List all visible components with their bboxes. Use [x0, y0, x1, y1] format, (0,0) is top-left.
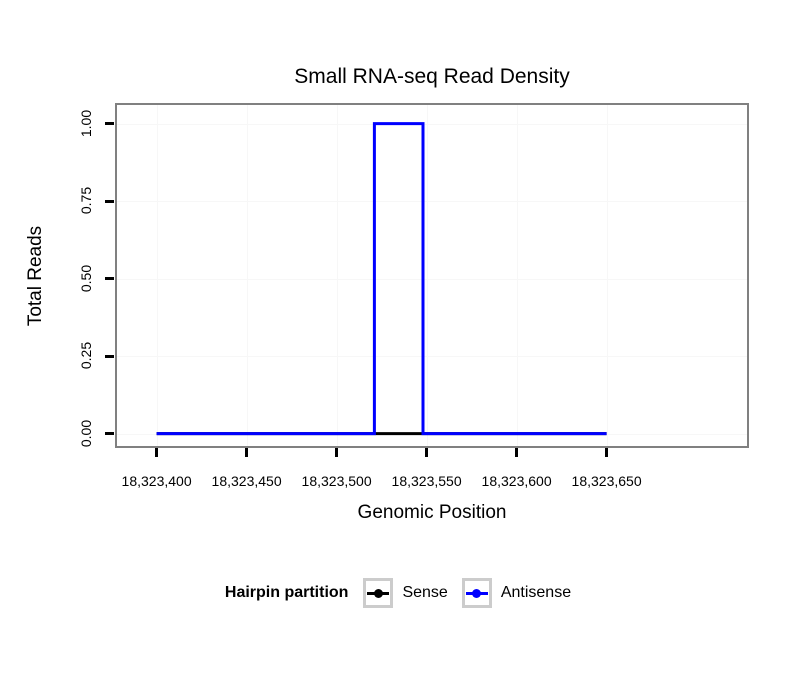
y-axis-tick — [105, 122, 114, 125]
plot-panel — [115, 103, 749, 448]
legend-label: Sense — [402, 584, 447, 602]
legend-key-dot-icon — [374, 589, 383, 598]
x-axis-tick — [245, 448, 248, 457]
y-axis-tick-label: 0.50 — [0, 270, 100, 287]
y-axis-tick — [105, 432, 114, 435]
legend-key-icon — [462, 578, 492, 608]
legend-key-dot-icon — [472, 589, 481, 598]
y-axis-tick-label: 0.75 — [0, 192, 100, 209]
legend-label: Antisense — [501, 584, 571, 602]
y-axis-tick-label: 0.00 — [0, 425, 100, 442]
chart-figure: Small RNA-seq Read Density 18,323,40018,… — [0, 0, 810, 690]
legend-entry-sense[interactable]: Sense — [363, 578, 447, 608]
y-axis-tick — [105, 200, 114, 203]
chart-title: Small RNA-seq Read Density — [115, 64, 749, 90]
x-axis-tick — [515, 448, 518, 457]
y-axis-title-text: Total Reads — [25, 225, 47, 325]
y-axis-tick — [105, 355, 114, 358]
legend-title: Hairpin partition — [225, 584, 349, 602]
series-layer — [117, 105, 747, 446]
series-line-antisense — [157, 124, 607, 434]
legend-entry-antisense[interactable]: Antisense — [462, 578, 571, 608]
x-axis-title: Genomic Position — [115, 501, 749, 525]
chart-legend: Hairpin partition SenseAntisense — [0, 578, 810, 608]
x-axis-tick — [335, 448, 338, 457]
y-axis-tick-label: 0.25 — [0, 347, 100, 364]
y-axis-tick-label: 1.00 — [0, 115, 100, 132]
x-axis-tick — [605, 448, 608, 457]
y-axis-tick — [105, 277, 114, 280]
x-axis-tick-label: 18,323,650 — [547, 473, 667, 490]
legend-key-icon — [363, 578, 393, 608]
legend-entries: SenseAntisense — [363, 578, 585, 608]
y-axis-title: Total Reads — [22, 103, 50, 448]
x-axis-tick — [425, 448, 428, 457]
x-axis-tick — [155, 448, 158, 457]
plot-area — [117, 105, 747, 446]
